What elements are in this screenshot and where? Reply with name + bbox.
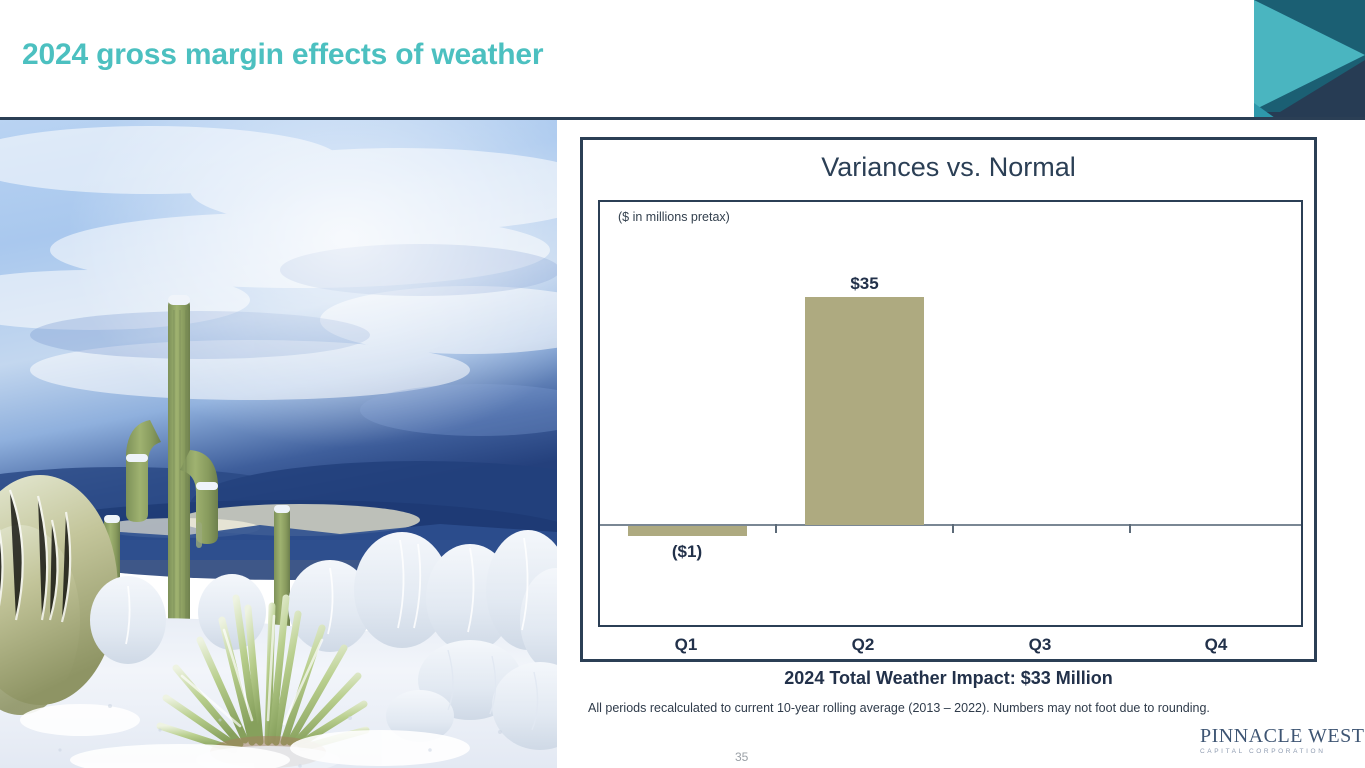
bar-label-q1: ($1) xyxy=(627,542,747,562)
logo-tagline: CAPITAL CORPORATION xyxy=(1200,748,1355,755)
category-label-q3: Q3 xyxy=(980,635,1100,655)
chart-footnote: All periods recalculated to current 10-y… xyxy=(588,701,1348,715)
slide-header: 2024 gross margin effects of weather xyxy=(0,0,1365,118)
category-label-q2: Q2 xyxy=(803,635,923,655)
pinnacle-west-logo: PINNACLE WEST CAPITAL CORPORATION xyxy=(1200,726,1355,760)
winter-desert-photo xyxy=(0,120,557,768)
bar-q1[interactable] xyxy=(628,526,747,536)
page-number: 35 xyxy=(735,750,748,764)
axis-tick-1 xyxy=(775,524,777,533)
axis-tick-3 xyxy=(1129,524,1131,533)
page-title: 2024 gross margin effects of weather xyxy=(22,38,543,72)
total-weather-impact-label: 2024 Total Weather Impact: $33 Million xyxy=(580,668,1317,689)
chart-units-label: ($ in millions pretax) xyxy=(618,210,730,224)
logo-wordmark: PINNACLE WEST xyxy=(1200,726,1355,747)
snowy-cactus-illustration xyxy=(0,120,557,768)
category-label-q1: Q1 xyxy=(626,635,746,655)
corner-triangles-icon xyxy=(1230,0,1365,118)
bar-label-q2: $35 xyxy=(805,274,924,294)
category-label-q4: Q4 xyxy=(1156,635,1276,655)
bar-q2[interactable] xyxy=(805,297,924,525)
category-axis-labels: Q1 Q2 Q3 Q4 xyxy=(598,635,1303,661)
corner-decoration-graphic xyxy=(1230,0,1365,118)
chart-plot-area: ($ in millions pretax) ($1) $35 xyxy=(598,200,1303,627)
axis-tick-2 xyxy=(952,524,954,533)
chart-title: Variances vs. Normal xyxy=(583,152,1314,183)
chart-panel: Variances vs. Normal ($ in millions pret… xyxy=(580,137,1317,662)
